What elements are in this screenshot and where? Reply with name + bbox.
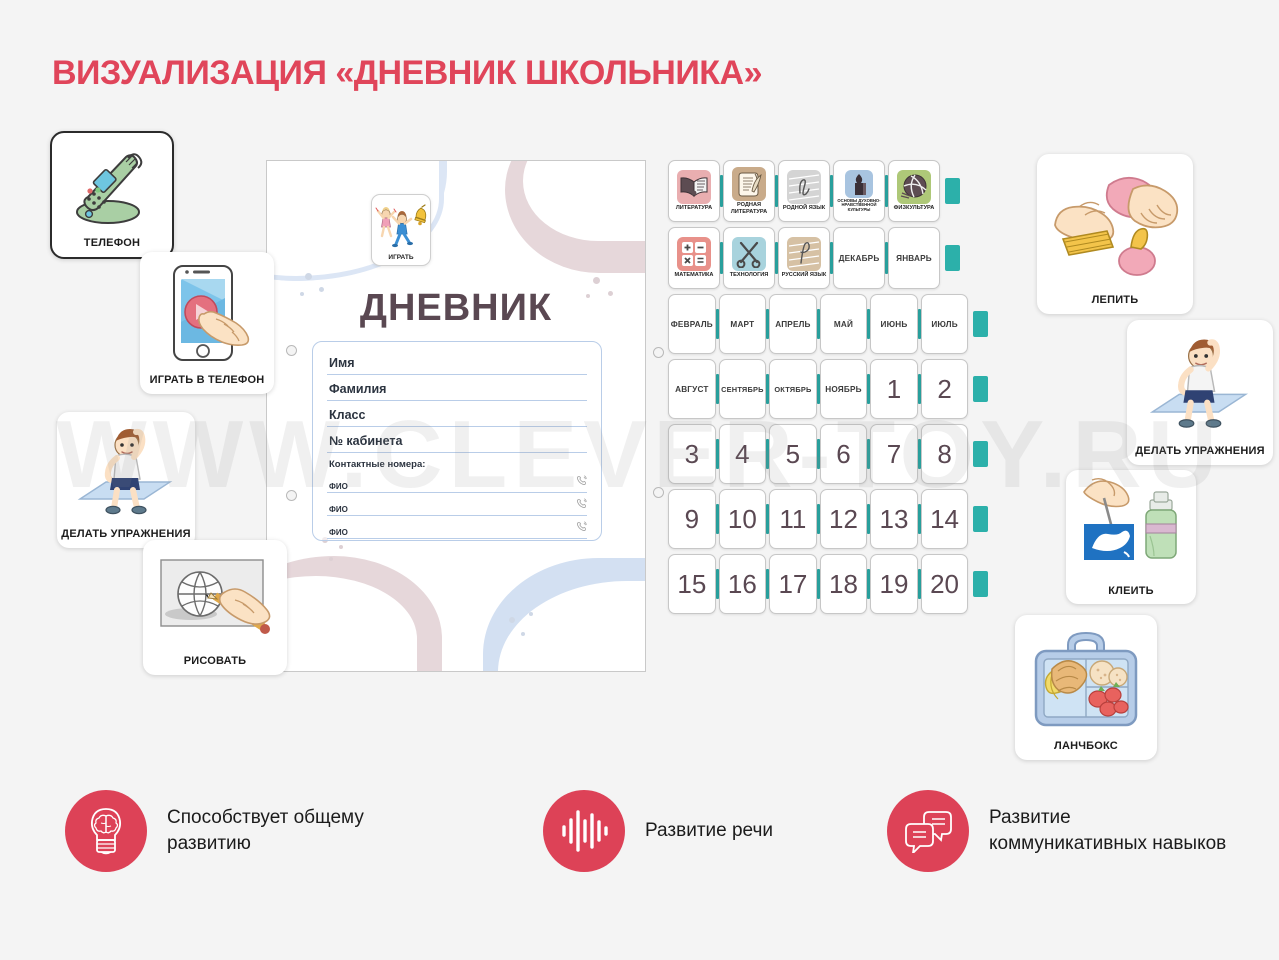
grid-row: ФЕВРАЛЬ МАРТ АПРЕЛЬ МАЙ ИЮНЬ ИЮЛЬ [668, 294, 988, 354]
decorative-dot [593, 277, 600, 284]
diary-form: Имя Фамилия Класс № кабинета Контактные … [312, 341, 602, 541]
contact-row-label: ФИО [329, 482, 348, 491]
field-name[interactable]: Имя [327, 352, 587, 375]
page-title: ВИЗУАЛИЗАЦИЯ «ДНЕВНИК ШКОЛЬНИКА» [52, 54, 762, 93]
right-card-do-exercises[interactable]: ДЕЛАТЬ УПРАЖНЕНИЯ [1127, 320, 1273, 465]
number-card-18-label: 18 [829, 571, 858, 597]
number-card-7[interactable]: 7 [870, 424, 918, 484]
play-badge-card[interactable]: ИГРАТЬ [371, 194, 431, 266]
month-card-june-label: ИЮНЬ [881, 320, 908, 329]
contact-row[interactable]: ФИО [327, 517, 587, 539]
decorative-dot [339, 545, 343, 549]
feature-speech-development-label: Развитие речи [645, 818, 773, 844]
right-card-lunchbox-label: ЛАНЧБОКС [1051, 741, 1121, 760]
right-card-lunchbox[interactable]: ЛАНЧБОКС [1015, 615, 1157, 760]
month-card-june[interactable]: ИЮНЬ [870, 294, 918, 354]
month-card-july-label: ИЮЛЬ [931, 320, 957, 329]
phone-icon [576, 473, 587, 491]
number-card-18[interactable]: 18 [820, 554, 868, 614]
month-card-may-label: МАЙ [834, 320, 853, 329]
number-card-2-label: 2 [937, 376, 951, 402]
month-card-july[interactable]: ИЮЛЬ [921, 294, 969, 354]
month-card-august-label: АВГУСТ [675, 385, 708, 394]
month-card-december-label: ДЕКАБРЬ [839, 254, 880, 263]
number-card-9[interactable]: 9 [668, 489, 716, 549]
decorative-dot [529, 612, 533, 616]
right-card-glue[interactable]: КЛЕИТЬ [1066, 470, 1196, 604]
left-card-do-exercises[interactable]: ДЕЛАТЬ УПРАЖНЕНИЯ [57, 412, 195, 548]
number-card-6-label: 6 [836, 441, 850, 467]
number-card-8-label: 8 [937, 441, 951, 467]
subject-card-technology[interactable]: ТЕХНОЛОГИЯ [723, 227, 775, 289]
number-card-13-label: 13 [880, 506, 909, 532]
decorative-dot [509, 617, 515, 623]
volleyball-icon [897, 170, 931, 204]
subject-card-technology-label: ТЕХНОЛОГИЯ [729, 271, 770, 278]
subject-card-native-literature-label: РОДНАЯ ЛИТЕРАТУРА [724, 201, 774, 214]
subject-card-native-literature[interactable]: РОДНАЯ ЛИТЕРАТУРА [723, 160, 775, 222]
right-card-sculpt[interactable]: ЛЕПИТЬ [1037, 154, 1193, 314]
phone-icon [576, 496, 587, 514]
number-card-1[interactable]: 1 [870, 359, 918, 419]
cursive-r-icon [787, 237, 821, 271]
subject-card-russian-language-label: РУССКИЙ ЯЗЫК [781, 271, 828, 278]
row-tab[interactable] [973, 506, 988, 532]
month-card-december[interactable]: ДЕКАБРЬ [833, 227, 885, 289]
grid-row: 15 16 17 18 19 20 [668, 554, 988, 614]
candle-icon [845, 170, 873, 198]
field-class[interactable]: Класс [327, 404, 587, 427]
month-card-august[interactable]: АВГУСТ [668, 359, 716, 419]
grid-row: ЛИТЕРАТУРА РОДНАЯ ЛИТЕРАТУРА [668, 160, 988, 222]
number-card-4[interactable]: 4 [719, 424, 767, 484]
month-card-march-label: МАРТ [730, 320, 754, 329]
field-surname[interactable]: Фамилия [327, 378, 587, 401]
number-card-12-label: 12 [829, 506, 858, 532]
subject-card-native-language[interactable]: РОДНОЙ ЯЗЫК [778, 160, 830, 222]
lunchbox-icon [1015, 615, 1157, 741]
number-card-5[interactable]: 5 [769, 424, 817, 484]
smartphone-hand-icon [140, 252, 274, 375]
boy-stretching-icon [57, 412, 195, 529]
month-card-may[interactable]: МАЙ [820, 294, 868, 354]
hole-punch [286, 490, 297, 501]
grid-row: МАТЕМАТИКА ТЕХНОЛОГИЯ [668, 227, 988, 289]
contact-row-label: ФИО [329, 528, 348, 537]
field-room-number[interactable]: № кабинета [327, 430, 587, 453]
number-card-11[interactable]: 11 [769, 489, 817, 549]
number-card-11-label: 11 [779, 506, 806, 532]
row-tab[interactable] [945, 178, 960, 204]
grid-row: 9 10 11 12 13 14 [668, 489, 988, 549]
hand-pencil-drawing-icon [143, 540, 287, 656]
scroll-quill-icon [732, 167, 766, 201]
diary-panel: ИГРАТЬ ДНЕВНИК Имя Фамилия Класс № кабин… [266, 160, 646, 672]
month-card-february[interactable]: ФЕВРАЛЬ [668, 294, 716, 354]
subject-card-mathematics-label: МАТЕМАТИКА [674, 271, 715, 278]
right-card-glue-label: КЛЕИТЬ [1105, 586, 1157, 604]
number-card-8[interactable]: 8 [921, 424, 969, 484]
card-grid: ЛИТЕРАТУРА РОДНАЯ ЛИТЕРАТУРА [668, 160, 988, 619]
month-card-january-label: ЯНВАРЬ [896, 254, 932, 263]
month-card-april[interactable]: АПРЕЛЬ [769, 294, 817, 354]
phone-icon [576, 519, 587, 537]
hole-punch [286, 345, 297, 356]
hole-punch [653, 347, 664, 358]
children-playing-icon [374, 199, 428, 254]
cordless-phone-icon [52, 133, 172, 238]
open-book-icon [677, 170, 711, 204]
number-card-14[interactable]: 14 [921, 489, 969, 549]
subject-card-physical-education[interactable]: ФИЗКУЛЬТУРА [888, 160, 940, 222]
feature-speech-development: Развитие речи [543, 790, 773, 872]
left-card-play-on-phone-label: ИГРАТЬ В ТЕЛЕФОН [147, 375, 268, 394]
left-card-draw[interactable]: РИСОВАТЬ [143, 540, 287, 675]
left-card-phone-label: ТЕЛЕФОН [81, 238, 143, 257]
right-card-sculpt-label: ЛЕПИТЬ [1089, 295, 1142, 314]
left-card-phone[interactable]: ТЕЛЕФОН [50, 131, 174, 259]
subject-card-mathematics[interactable]: МАТЕМАТИКА [668, 227, 720, 289]
subject-card-spiritual-culture[interactable]: ОСНОВЫ ДУХОВНО-НРАВСТВЕННОЙ КУЛЬТУРЫ [833, 160, 885, 222]
left-card-draw-label: РИСОВАТЬ [181, 656, 250, 675]
number-card-1-label: 1 [887, 376, 901, 402]
number-card-7-label: 7 [887, 441, 901, 467]
number-card-15-label: 15 [677, 571, 706, 597]
number-card-17-label: 17 [778, 571, 807, 597]
month-card-september[interactable]: СЕНТЯБРЬ [719, 359, 767, 419]
number-card-14-label: 14 [930, 506, 959, 532]
row-tab[interactable] [973, 441, 988, 467]
boy-stretching-icon [1127, 320, 1273, 446]
decorative-dot [329, 557, 333, 561]
number-card-13[interactable]: 13 [870, 489, 918, 549]
row-tab[interactable] [973, 311, 988, 337]
scissors-icon [732, 237, 766, 271]
grid-row: АВГУСТ СЕНТЯБРЬ ОКТЯБРЬ НОЯБРЬ 1 2 [668, 359, 988, 419]
brain-lightbulb-icon [65, 790, 147, 872]
feature-communication-skills: Развитие коммуникативных навыков [887, 790, 1229, 872]
number-card-19[interactable]: 19 [870, 554, 918, 614]
feature-communication-skills-label: Развитие коммуникативных навыков [989, 805, 1229, 856]
subject-card-russian-language[interactable]: РУССКИЙ ЯЗЫК [778, 227, 830, 289]
decorative-dot [521, 632, 525, 636]
month-card-april-label: АПРЕЛЬ [775, 320, 810, 329]
subject-card-physical-education-label: ФИЗКУЛЬТУРА [893, 204, 936, 211]
cursive-letter-icon [787, 170, 821, 204]
calculator-icon [677, 237, 711, 271]
contact-row-label: ФИО [329, 505, 348, 514]
number-card-9-label: 9 [685, 506, 699, 532]
subject-card-literature-label: ЛИТЕРАТУРА [675, 204, 713, 211]
number-card-19-label: 19 [880, 571, 909, 597]
number-card-3[interactable]: 3 [668, 424, 716, 484]
number-card-10-label: 10 [728, 506, 757, 532]
contact-row[interactable]: ФИО [327, 494, 587, 516]
decorative-dot [305, 273, 312, 280]
feature-general-development-label: Способствует общему развитию [167, 805, 407, 856]
left-card-play-on-phone[interactable]: ИГРАТЬ В ТЕЛЕФОН [140, 252, 274, 394]
sound-wave-icon [543, 790, 625, 872]
number-card-20-label: 20 [930, 571, 959, 597]
subject-card-spiritual-culture-label: ОСНОВЫ ДУХОВНО-НРАВСТВЕННОЙ КУЛЬТУРЫ [834, 198, 884, 213]
speech-bubbles-icon [887, 790, 969, 872]
number-card-16-label: 16 [728, 571, 757, 597]
number-card-6[interactable]: 6 [820, 424, 868, 484]
number-card-20[interactable]: 20 [921, 554, 969, 614]
hands-clay-icon [1037, 154, 1193, 295]
number-card-15[interactable]: 15 [668, 554, 716, 614]
row-tab[interactable] [973, 571, 988, 597]
month-card-november[interactable]: НОЯБРЬ [820, 359, 868, 419]
hole-punch [653, 487, 664, 498]
month-card-january[interactable]: ЯНВАРЬ [888, 227, 940, 289]
number-card-12[interactable]: 12 [820, 489, 868, 549]
diary-heading: ДНЕВНИК [267, 287, 645, 330]
row-tab[interactable] [945, 245, 960, 271]
row-tab[interactable] [973, 376, 988, 402]
number-card-4-label: 4 [735, 441, 749, 467]
subject-card-literature[interactable]: ЛИТЕРАТУРА [668, 160, 720, 222]
month-card-november-label: НОЯБРЬ [825, 385, 862, 394]
number-card-17[interactable]: 17 [769, 554, 817, 614]
number-card-3-label: 3 [685, 441, 699, 467]
number-card-16[interactable]: 16 [719, 554, 767, 614]
number-card-5-label: 5 [786, 441, 800, 467]
number-card-2[interactable]: 2 [921, 359, 969, 419]
month-card-september-label: СЕНТЯБРЬ [721, 385, 764, 394]
feature-general-development: Способствует общему развитию [65, 790, 407, 872]
month-card-march[interactable]: МАРТ [719, 294, 767, 354]
subject-card-native-language-label: РОДНОЙ ЯЗЫК [782, 204, 826, 211]
contact-row[interactable]: ФИО [327, 471, 587, 493]
play-badge-label: ИГРАТЬ [388, 254, 413, 263]
right-card-do-exercises-label: ДЕЛАТЬ УПРАЖНЕНИЯ [1132, 446, 1267, 465]
month-card-february-label: ФЕВРАЛЬ [671, 320, 713, 329]
contacts-label: Контактные номера: [327, 456, 587, 471]
number-card-10[interactable]: 10 [719, 489, 767, 549]
month-card-october-label: ОКТЯБРЬ [774, 385, 811, 394]
glue-brush-icon [1066, 470, 1196, 586]
month-card-october[interactable]: ОКТЯБРЬ [769, 359, 817, 419]
grid-row: 3 4 5 6 7 8 [668, 424, 988, 484]
